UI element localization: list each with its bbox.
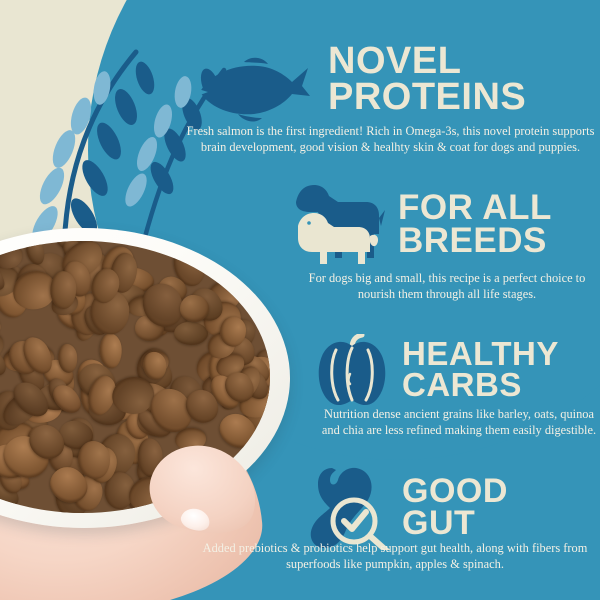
feature-body-text: Fresh salmon is the first ingredient! Ri… — [186, 123, 595, 156]
feature-heading: FOR ALL BREEDS — [398, 192, 552, 258]
heading-line-2: GUT — [402, 508, 508, 540]
pumpkin-icon — [312, 334, 392, 415]
salmon-fish-icon — [192, 52, 312, 131]
feature-body-text: Added prebiotics & probiotics help suppo… — [190, 540, 600, 573]
feature-heading: NOVEL PROTEINS — [328, 44, 526, 115]
feature-heading: HEALTHY CARBS — [402, 338, 559, 400]
product-benefits-infographic: NOVEL PROTEINS Fresh salmon is the first… — [0, 0, 600, 600]
heading-line-2: CARBS — [402, 369, 559, 400]
heading-line-2: BREEDS — [398, 225, 552, 258]
two-dogs-icon — [282, 182, 386, 273]
feature-body-text: For dogs big and small, this recipe is a… — [296, 270, 598, 303]
feature-heading: GOOD GUT — [402, 476, 508, 540]
heading-line-1: HEALTHY — [402, 338, 559, 369]
heading-line-1: FOR ALL — [398, 192, 552, 225]
heading-line-1: NOVEL — [328, 44, 526, 80]
feature-body-text: Nutrition dense ancient grains like barl… — [318, 406, 600, 439]
heading-line-2: PROTEINS — [328, 80, 526, 116]
